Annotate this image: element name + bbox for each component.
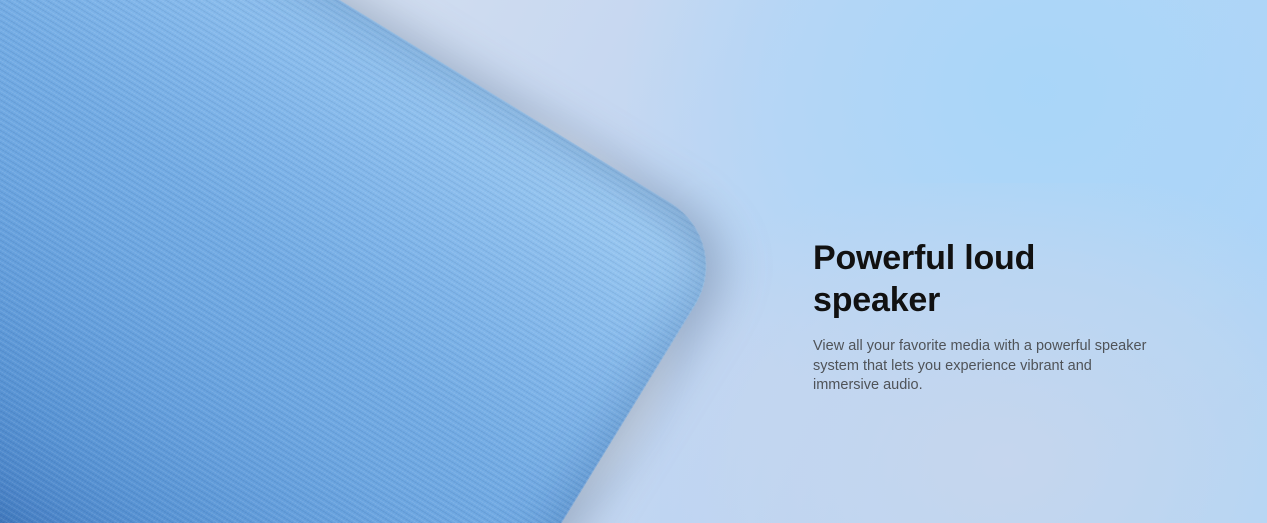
product-feature-banner: Powerful loud speaker View all your favo… (0, 0, 1267, 523)
page-title: Powerful loud speaker (813, 237, 1163, 321)
copy-block: Powerful loud speaker View all your favo… (813, 237, 1163, 396)
description-text: View all your favorite media with a powe… (813, 337, 1151, 396)
